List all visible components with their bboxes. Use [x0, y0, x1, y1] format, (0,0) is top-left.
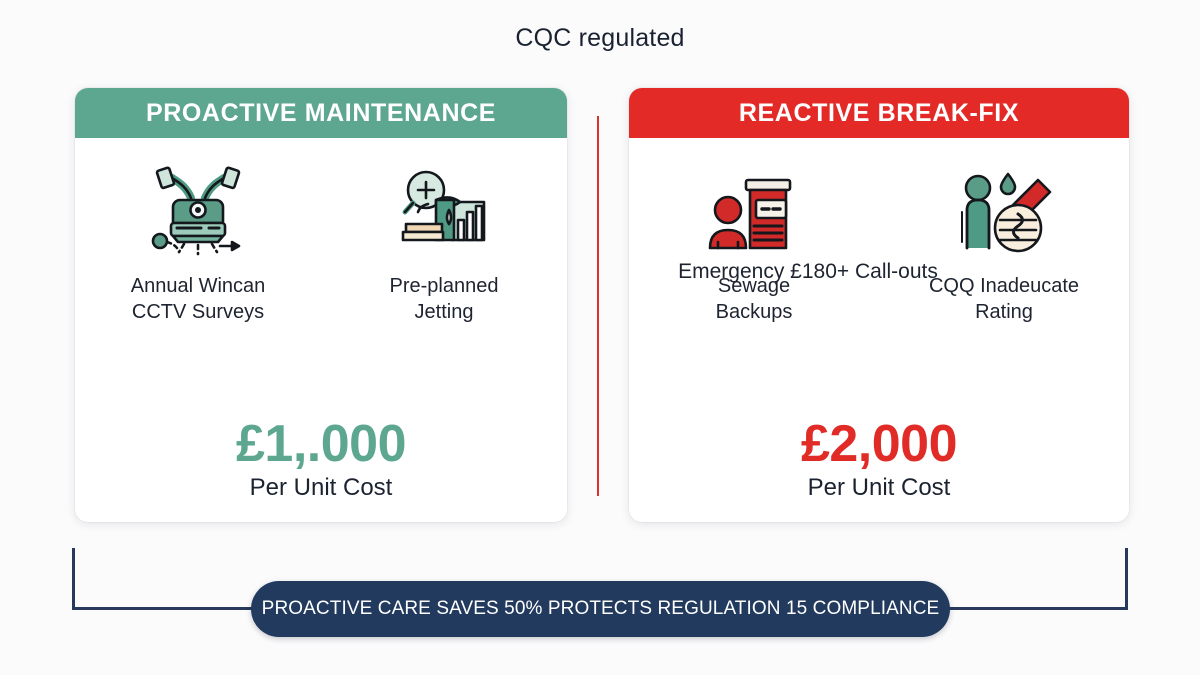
item-label-annual-wincan-cctv-surveys: Annual Wincan CCTV Surveys — [131, 274, 266, 325]
card-header-proactive: PROACTIVE MAINTENANCE — [75, 88, 567, 138]
card-reactive-break-fix: REACTIVE BREAK-FIX — [629, 88, 1129, 522]
item-cqq-inadeucate-rating: CQQ Inadeucate Rating — [899, 160, 1109, 325]
price-block-reactive: £2,000 Per Unit Cost — [629, 417, 1129, 502]
label-line-2: Jetting — [390, 300, 499, 326]
item-annual-wincan-cctv-surveys: Annual Wincan CCTV Surveys — [93, 160, 303, 325]
cctv-crawler-robot-icon — [146, 160, 250, 260]
card-proactive-maintenance: PROACTIVE MAINTENANCE — [75, 88, 567, 522]
icon-row-proactive: Annual Wincan CCTV Surveys — [75, 160, 567, 325]
price-block-proactive: £1,.000 Per Unit Cost — [75, 417, 567, 502]
label-line-2: Rating — [929, 300, 1079, 326]
summary-banner-text: PROACTIVE CARE SAVES 50% PROTECTS REGULA… — [262, 598, 940, 620]
icon-row-reactive: Sewage Backups — [629, 160, 1129, 325]
page-title: CQC regulated — [0, 24, 1200, 53]
price-value-proactive: £1,.000 — [75, 417, 567, 472]
item-pre-planned-jetting: Pre-planned Jetting — [339, 160, 549, 325]
person-machine-emergency-icon — [702, 160, 806, 260]
label-line-1: Pre-planned — [390, 274, 499, 300]
label-line-2: CCTV Surveys — [131, 300, 266, 326]
comparison-divider — [597, 116, 599, 496]
card-body-reactive: Sewage Backups — [629, 138, 1129, 522]
summary-banner: PROACTIVE CARE SAVES 50% PROTECTS REGULA… — [251, 581, 950, 637]
label-line-2: Backups — [716, 300, 793, 326]
item-sewage-backups: Sewage Backups — [649, 160, 859, 325]
price-caption-proactive: Per Unit Cost — [75, 474, 567, 502]
card-body-proactive: Annual Wincan CCTV Surveys — [75, 138, 567, 522]
person-water-drop-rating-badge-icon — [952, 160, 1056, 260]
price-caption-reactive: Per Unit Cost — [629, 474, 1129, 502]
card-header-reactive: REACTIVE BREAK-FIX — [629, 88, 1129, 138]
label-line-1: Annual Wincan — [131, 274, 266, 300]
price-value-reactive: £2,000 — [629, 417, 1129, 472]
item-label-pre-planned-jetting: Pre-planned Jetting — [390, 274, 499, 325]
emergency-callouts-caption: Emergency £180+ Call-outs — [643, 260, 973, 284]
infographic-canvas: CQC regulated PROACTIVE MAINTENANCE — [0, 0, 1200, 675]
magnifier-plus-chart-books-icon — [392, 160, 496, 260]
